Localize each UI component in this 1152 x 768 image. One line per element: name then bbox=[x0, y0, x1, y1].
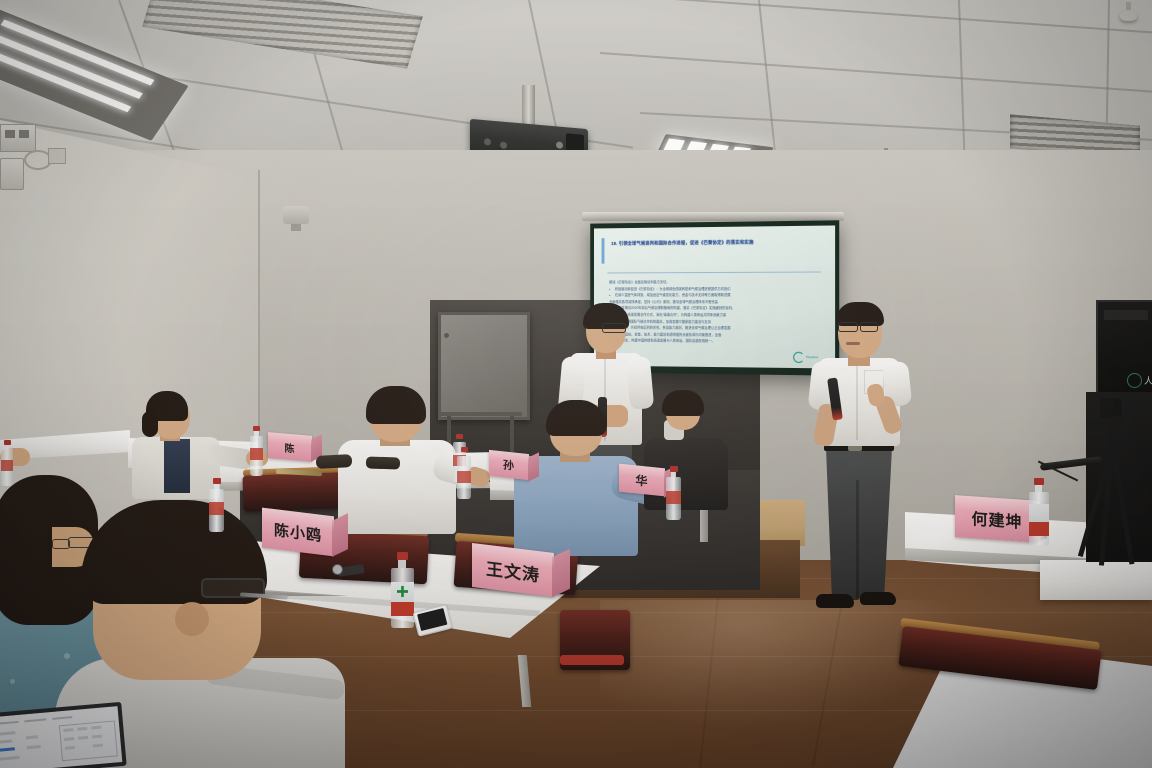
ear bbox=[175, 602, 209, 636]
monitor-reflection bbox=[1104, 310, 1148, 320]
inner-top bbox=[164, 439, 190, 493]
wall-fixture-emergency-light bbox=[0, 124, 36, 152]
water-bottle bbox=[665, 466, 682, 520]
water-bottle bbox=[456, 447, 472, 499]
hair bbox=[662, 390, 704, 416]
eyeglass-case bbox=[316, 454, 353, 469]
projector-mount bbox=[522, 85, 535, 127]
desk-under-monitor bbox=[1040, 560, 1152, 600]
trouser-crease bbox=[856, 480, 859, 600]
laptop[interactable] bbox=[0, 703, 118, 768]
shirt-placket bbox=[856, 360, 858, 440]
slide-line: 在减少温室气体排放、增加适应气候变化能力、资金与技术支持等方面取得新进展 bbox=[609, 292, 821, 299]
ponytail bbox=[142, 411, 158, 437]
screen-roller-housing bbox=[582, 212, 844, 221]
chair-frame bbox=[560, 655, 624, 665]
photo-scene: 18. 引领全球气候谈判和国际合作进程，促进《巴黎协定》的落实和实施 解读《巴黎… bbox=[0, 0, 1152, 768]
smartphone-screen bbox=[417, 608, 447, 631]
monitor-logo: 人 bbox=[1127, 373, 1152, 388]
shoe-right bbox=[860, 592, 896, 605]
hair bbox=[366, 386, 426, 424]
monitor-display[interactable]: 人 bbox=[1096, 300, 1152, 396]
name-card-3: 孙 bbox=[489, 452, 539, 482]
eyeglasses bbox=[602, 323, 626, 333]
slide-accent-bar bbox=[602, 238, 605, 264]
wall-fixture-box bbox=[0, 158, 24, 190]
name-card-2: 陈小鸥 bbox=[262, 512, 348, 558]
slide-logo-mark bbox=[793, 352, 804, 363]
water-bottle bbox=[1028, 478, 1050, 546]
speaker-standing-right bbox=[808, 300, 928, 620]
monitor-logo-ring bbox=[1127, 373, 1142, 388]
shoe-left bbox=[816, 594, 854, 608]
eyeglasses-right-lens bbox=[860, 322, 878, 332]
air-vent-grille-left bbox=[142, 0, 423, 69]
slide-title: 18. 引领全球气候谈判和国际合作进程，促进《巴黎协定》的落实和实施 bbox=[611, 238, 819, 248]
speaker-right-trousers bbox=[826, 448, 892, 600]
wall-outlet bbox=[48, 148, 66, 164]
monitor-logo-text: 人 bbox=[1144, 374, 1152, 387]
hair bbox=[546, 400, 606, 436]
attendee-back-center-man bbox=[330, 398, 470, 538]
phone-on-back-desk bbox=[366, 456, 400, 469]
eyeglasses bbox=[838, 322, 858, 332]
water-bottle bbox=[390, 552, 415, 628]
wall-speaker bbox=[283, 206, 309, 224]
water-bottle bbox=[208, 478, 225, 532]
name-card-4: 王文涛 bbox=[472, 548, 572, 600]
laptop-screen bbox=[0, 702, 127, 768]
wall-speaker-bracket bbox=[291, 224, 301, 231]
name-card-1: 陈 bbox=[268, 434, 322, 462]
water-bottle bbox=[0, 440, 14, 486]
water-bottle bbox=[249, 426, 264, 476]
mouth bbox=[846, 342, 860, 345]
